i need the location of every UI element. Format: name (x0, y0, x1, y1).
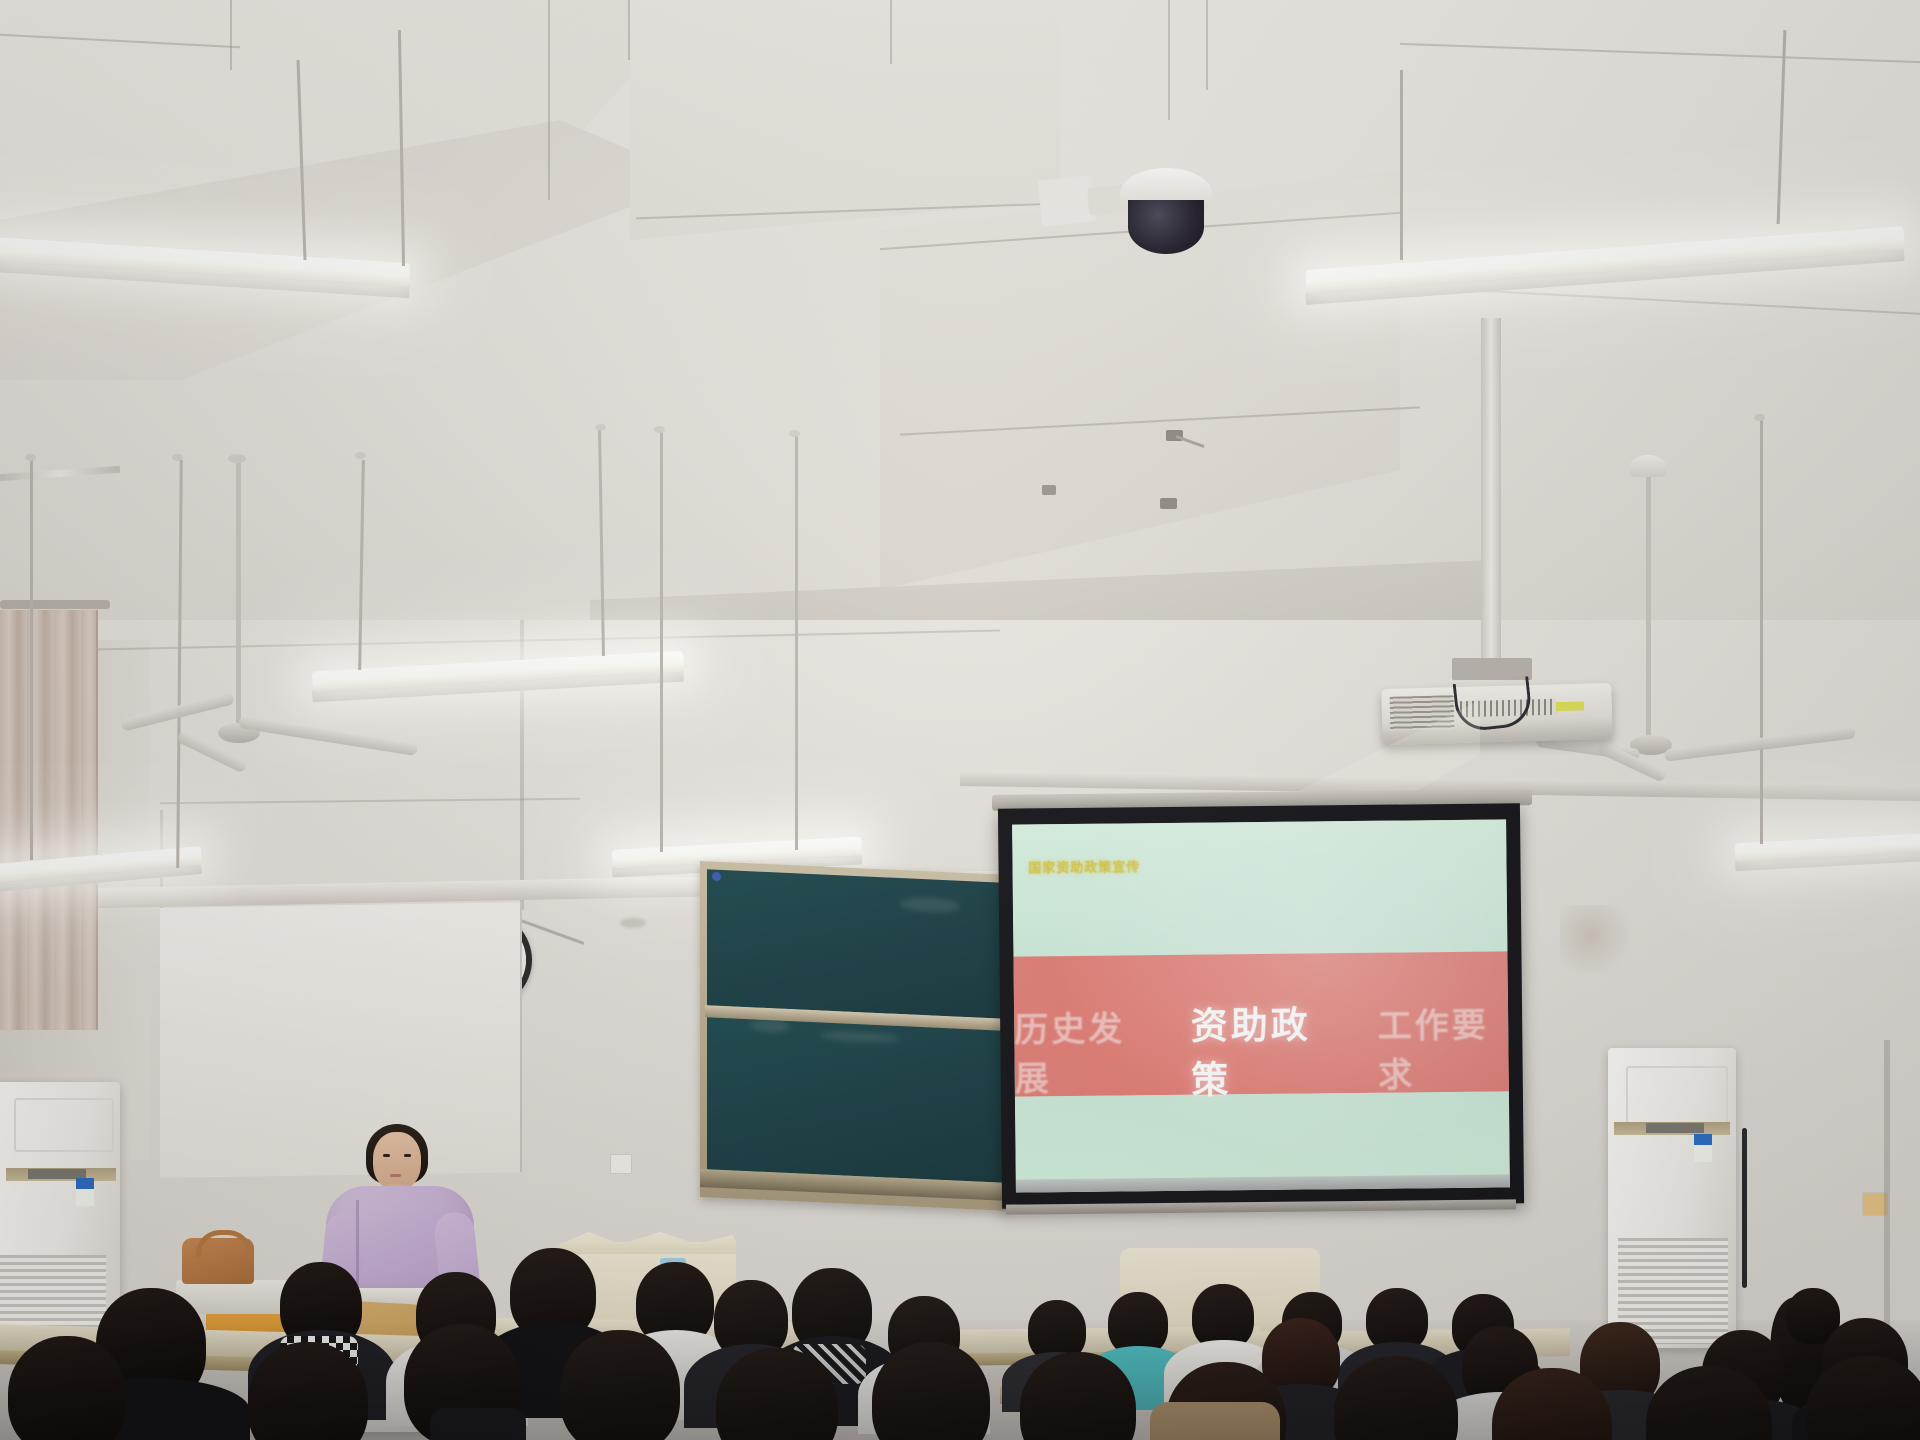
ceiling-seam (628, 0, 630, 60)
speaker-eye-left (383, 1154, 390, 1157)
light-hanger (795, 436, 798, 850)
slide-nav-item-funding-policy: 资助政策 (1190, 994, 1332, 1103)
light-hanger (660, 432, 663, 852)
hanger-cap (654, 426, 665, 433)
fan-downrod-2 (1646, 462, 1651, 742)
ac-energy-sticker (1694, 1134, 1712, 1162)
ac-vent-opening (1646, 1123, 1704, 1133)
ceiling-seam (1168, 0, 1170, 120)
ac-top-panel (14, 1098, 114, 1152)
audience-hoodie (430, 1408, 526, 1440)
projector-pole (1481, 318, 1501, 668)
ceiling-seam (890, 0, 892, 64)
speaker-mouth (390, 1174, 401, 1177)
ceiling-fitting (1160, 498, 1177, 509)
blackboard-upper-panel (707, 869, 1003, 1018)
wall-corner-seam (1884, 1040, 1890, 1340)
fan-downrod-1 (236, 460, 241, 730)
slide-nav-group: 历史发展 资助政策 工作要求 (1014, 992, 1509, 1105)
slide-band-top (1012, 819, 1507, 957)
slide-nav-item-work-requirements: 工作要求 (1377, 997, 1508, 1096)
security-camera-icon (1128, 200, 1204, 254)
projection-screen-frame: 国家资助政策宣传 历史发展 资助政策 工作要求 (998, 803, 1524, 1208)
hanger-cap (355, 452, 366, 459)
hanger-cap (595, 424, 606, 431)
audience-head-front (8, 1336, 126, 1440)
light-hanger (1760, 420, 1763, 844)
slide-badge-text: 国家资助政策宣传 (1028, 856, 1140, 876)
audience-head-front (560, 1330, 680, 1440)
dried-plant (1560, 905, 1636, 981)
fan-mount (228, 454, 246, 463)
ceiling-seam (1206, 0, 1208, 90)
ac-energy-sticker (76, 1178, 94, 1206)
window-curtain (0, 610, 98, 1030)
ceiling-light-base (1630, 455, 1666, 477)
wall-socket (610, 1154, 632, 1174)
speaker-eye-right (404, 1154, 411, 1157)
ceiling-seam (230, 0, 232, 70)
projection-screen-surface: 国家资助政策宣传 历史发展 资助政策 工作要求 (1012, 819, 1510, 1192)
ceiling-seam (548, 0, 550, 200)
hanger-cap (1754, 414, 1765, 421)
slide-nav-item-history: 历史发展 (1014, 1001, 1145, 1100)
hanger-cap (25, 454, 36, 461)
hanger-cap (789, 430, 800, 437)
wall-panel-left (160, 902, 522, 1178)
ac-top-panel (1626, 1066, 1728, 1124)
light-hanger (1400, 70, 1403, 260)
speaker-head (373, 1132, 421, 1190)
ac-cable (1742, 1128, 1747, 1288)
curtain-rod (0, 600, 110, 609)
hanger-cap (172, 454, 183, 461)
light-hanger (30, 460, 33, 860)
audience-beige-coat (1150, 1402, 1280, 1440)
board-magnet (712, 872, 721, 881)
wall-mark (620, 918, 646, 928)
blackboard-lower-panel (707, 1017, 1003, 1182)
classroom-photo-scene: 12 1 2 3 4 5 6 7 8 9 10 11 (0, 0, 1920, 1440)
ceiling-fitting (1042, 485, 1056, 495)
